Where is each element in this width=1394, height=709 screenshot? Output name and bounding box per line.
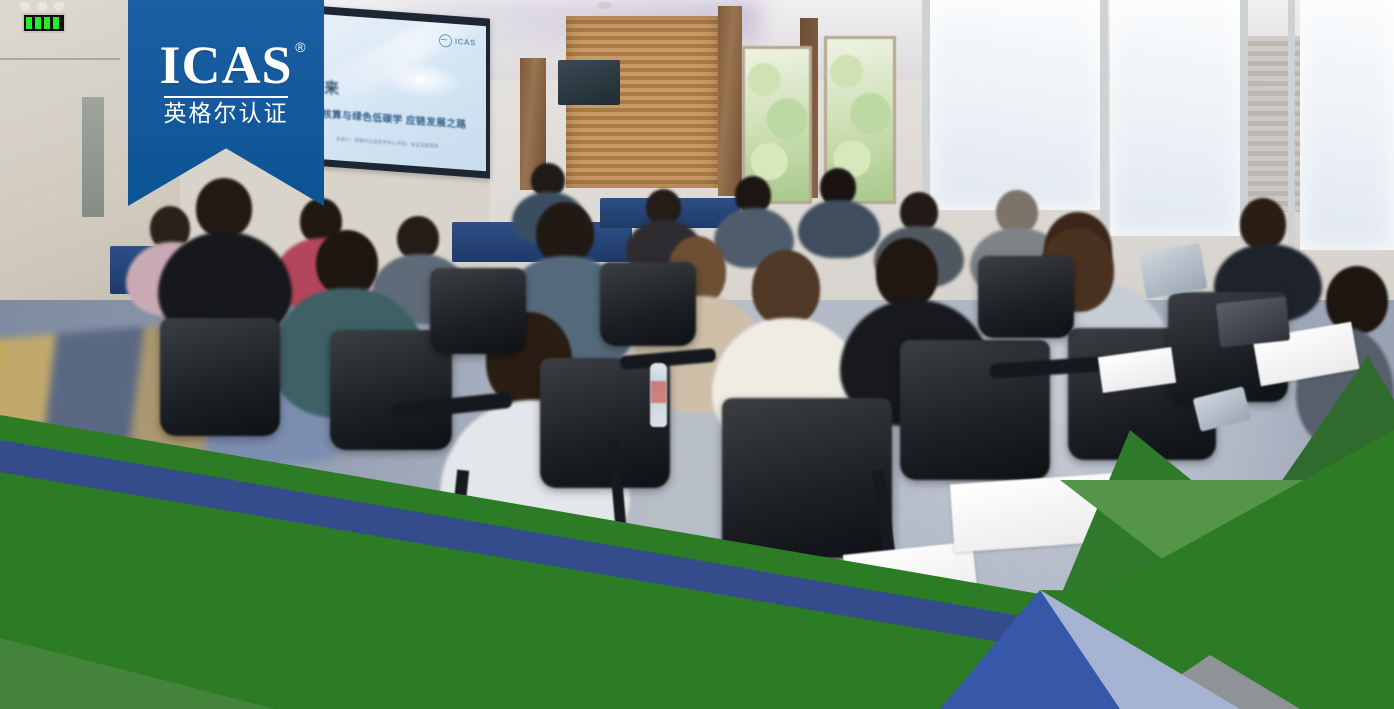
attendee-head	[752, 250, 820, 326]
attendee-head	[196, 178, 252, 238]
window	[1300, 0, 1394, 250]
window-mullion	[1100, 0, 1108, 230]
slide-logo-text: ICAS	[455, 37, 476, 48]
icas-chinese-name: 英格尔认证	[128, 103, 324, 126]
brand-photo-composite: ICAS 来 核算与绿色低碳学 应链发展之路 主讲人：英格尔认证技术中心 时间：…	[0, 0, 1394, 709]
laptop-device	[1216, 296, 1290, 347]
chair	[978, 256, 1074, 338]
ceiling-fixture	[598, 2, 611, 9]
window-mullion	[1288, 0, 1295, 250]
window	[930, 0, 1100, 210]
wood-column	[718, 6, 742, 196]
attendee-head	[876, 238, 938, 308]
chair	[722, 398, 892, 558]
registered-trademark-icon: ®	[295, 40, 306, 54]
emergency-exit-sign	[22, 13, 66, 33]
chair	[160, 318, 280, 436]
paper-sheet	[950, 472, 1140, 553]
attendee-head	[1240, 198, 1286, 250]
logo-divider	[164, 96, 288, 98]
projector-glare	[316, 14, 486, 117]
slide-subtitle: 核算与绿色低碳学 应链发展之路	[322, 106, 467, 131]
slide-title: 来	[324, 76, 339, 98]
paper-sheet	[843, 541, 979, 620]
exit-sign-glyphs	[26, 17, 62, 29]
window	[1110, 0, 1240, 236]
icas-logo: ICAS® 英格尔认证	[128, 38, 324, 126]
attendee-head	[536, 202, 594, 264]
ceiling-spotlights	[18, 2, 66, 11]
wall-seam	[0, 58, 120, 60]
icas-wordmark: ICAS®	[159, 38, 292, 92]
slide-footnote: 主讲人：英格尔认证技术中心 时间：会议主题演讲	[336, 135, 438, 150]
chair	[430, 268, 526, 354]
icas-wordmark-text: ICAS	[159, 35, 292, 95]
slide-corner-logo: ICAS	[439, 34, 476, 50]
chair	[600, 262, 696, 346]
door-panel	[82, 97, 104, 217]
slide-logo-ring	[439, 34, 452, 48]
wall-monitor	[558, 60, 620, 105]
water-bottle	[650, 363, 667, 427]
projection-screen: ICAS 来 核算与绿色低碳学 应链发展之路 主讲人：英格尔认证技术中心 时间：…	[316, 14, 486, 171]
window-mullion	[922, 0, 930, 206]
attendee-head	[316, 230, 378, 296]
attendee-body	[798, 200, 880, 258]
